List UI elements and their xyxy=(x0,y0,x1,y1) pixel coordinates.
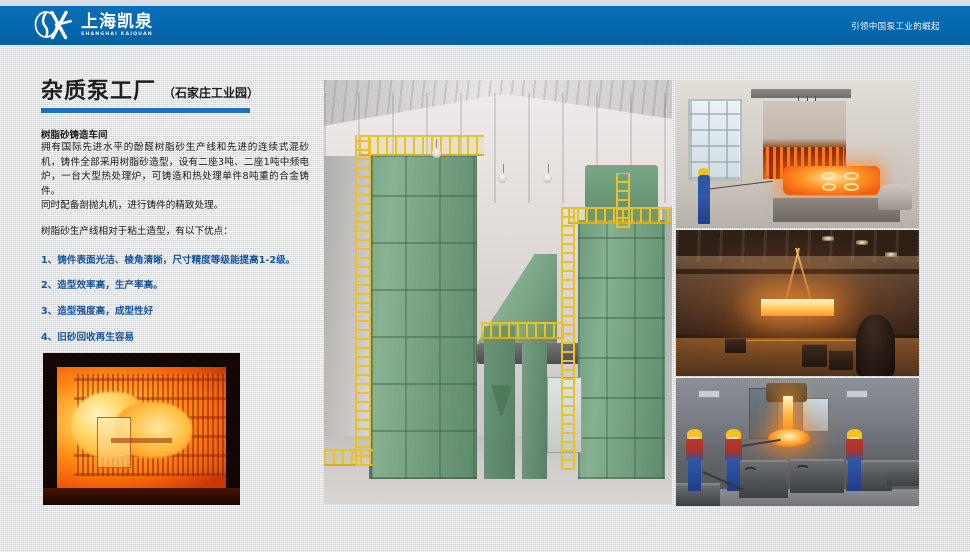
resin-sand-line-hall-photo xyxy=(324,80,672,504)
overhead-beam xyxy=(676,269,919,273)
tower-panel-grid xyxy=(371,156,477,478)
access-ladder-left xyxy=(355,135,371,466)
green-mixer-tower-right xyxy=(578,220,665,479)
section-heading: 树脂砂铸造车间 xyxy=(41,127,309,141)
kaiquan-pump-logo-icon xyxy=(32,10,74,40)
logo-wordmark: 上海凯泉 SHANGHAI KAIQUAN xyxy=(81,13,153,38)
mould-handle xyxy=(745,467,756,470)
advantage-bullet-2: 2、造型效率高，生产率高。 xyxy=(41,279,309,293)
body-paragraph-1: 拥有国际先进水平的酚醛树脂砂生产线和先进的连续式混砂机，铸件全部采用树脂砂造型，… xyxy=(41,141,309,199)
header-slogan: 引领中国泵工业的崛起 xyxy=(851,6,940,45)
logo-chinese-name: 上海凯泉 xyxy=(81,14,153,31)
hard-hat-icon xyxy=(698,168,709,175)
green-mixer-tower-left xyxy=(369,156,477,478)
mould-box xyxy=(887,460,919,486)
furnace-interior-photo xyxy=(43,353,240,505)
text-column: 杂质泵工厂 （石家庄工业园） 树脂砂铸造车间 拥有国际先进水平的酚醛树脂砂生产线… xyxy=(41,80,309,345)
casting-ring xyxy=(822,172,837,180)
furnace-glow-region xyxy=(57,364,226,492)
ceiling-lamp-icon xyxy=(822,236,834,241)
glowing-casting-load xyxy=(783,166,880,196)
furnace-frame-bottom xyxy=(43,488,240,505)
glowing-hot-slab xyxy=(761,299,834,317)
page-title: 杂质泵工厂 xyxy=(41,80,156,103)
worker-torso xyxy=(686,439,703,461)
mould-handle xyxy=(797,465,809,468)
access-ladder-middle xyxy=(561,207,575,470)
company-logo[interactable]: 上海凯泉 SHANGHAI KAIQUAN xyxy=(32,7,153,43)
worker-silhouette xyxy=(856,315,895,376)
casting-ring xyxy=(844,172,859,180)
wall-sign xyxy=(698,390,720,399)
furnace-frame-top xyxy=(43,353,240,367)
worker-figure xyxy=(686,429,703,490)
mould-box xyxy=(829,350,853,370)
ceiling-lamp-icon xyxy=(885,252,897,257)
worker-figure xyxy=(698,175,710,224)
mould-box xyxy=(725,338,747,353)
advantage-bullet-1: 1、铸件表面光洁、棱角清晰，尺寸精度等级能提高1-2级。 xyxy=(41,254,309,268)
body-paragraph-3: 树脂砂生产线相对于粘土造型，有以下优点： xyxy=(41,225,309,240)
logo-english-name: SHANGHAI KAIQUAN xyxy=(81,33,154,38)
furnace-support-bar xyxy=(111,438,172,443)
mould-box xyxy=(739,460,788,498)
worker-legs xyxy=(688,460,701,491)
shop-window xyxy=(688,99,741,180)
foundry-window xyxy=(802,398,829,431)
yellow-railing-upper-left xyxy=(359,135,484,156)
worker-figure xyxy=(846,429,863,490)
presentation-slide: 上海凯泉 SHANGHAI KAIQUAN 引领中国泵工业的崛起 杂质泵工厂 （… xyxy=(0,0,970,552)
crane-frame xyxy=(751,89,851,98)
casting-ring xyxy=(822,183,837,191)
advantage-bullet-3: 3、造型强度高，成型性好 xyxy=(41,305,309,319)
mould-box xyxy=(790,459,843,494)
window-mullion-grid xyxy=(690,101,739,178)
molten-metal-splash xyxy=(768,429,809,447)
ceiling-lamp-icon xyxy=(856,240,868,245)
body-paragraph-2: 同时配备剖抛丸机，进行铸件的精致处理。 xyxy=(41,199,309,214)
safety-railing-line xyxy=(725,340,871,341)
worker-torso xyxy=(846,439,863,461)
access-ladder-right xyxy=(616,173,630,228)
tower-panel-grid xyxy=(578,220,665,479)
molten-metal-pouring-photo xyxy=(676,378,919,506)
metal-drum xyxy=(878,184,912,211)
heat-treatment-furnace-photo xyxy=(676,80,919,228)
hot-casting-plate xyxy=(97,417,131,468)
equipment-column-2 xyxy=(522,334,546,478)
ceiling-lamp-icon xyxy=(498,173,507,183)
ceiling-lamp-icon xyxy=(432,148,441,158)
advantage-bullet-4: 4、旧砂回收再生容易 xyxy=(41,331,309,345)
yellow-railing-middle xyxy=(481,322,565,339)
worker-legs xyxy=(848,460,861,491)
title-underline-rule xyxy=(41,108,250,113)
wall-sign xyxy=(846,390,868,399)
crane-lifting-hot-casting-photo xyxy=(676,230,919,376)
slide-title-row: 杂质泵工厂 （石家庄工业园） xyxy=(41,80,309,103)
mould-box xyxy=(802,344,826,367)
page-subtitle: （石家庄工业园） xyxy=(163,84,259,103)
casting-ring xyxy=(844,183,859,191)
worker-torso xyxy=(725,439,742,461)
